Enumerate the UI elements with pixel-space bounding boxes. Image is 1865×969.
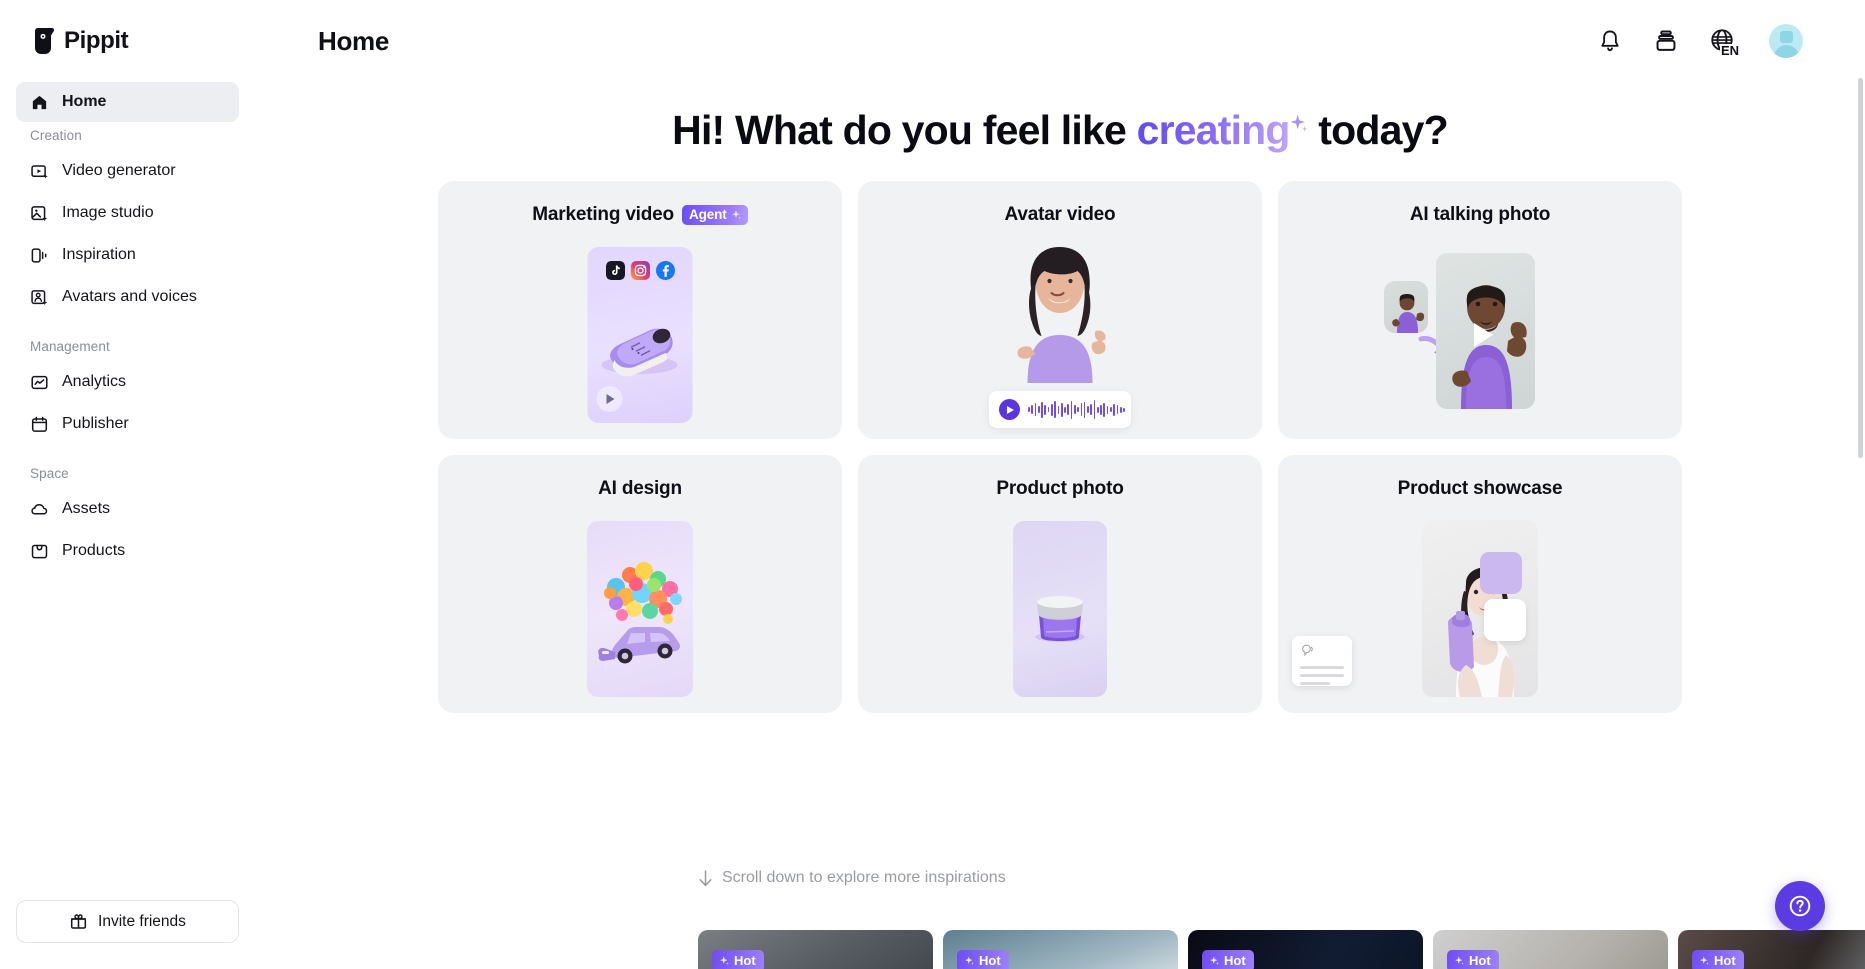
card-title: AI talking photo — [1278, 181, 1682, 226]
product-showcase-art — [1422, 520, 1538, 697]
question-circle-icon — [1787, 893, 1813, 919]
play-button[interactable] — [999, 399, 1020, 420]
purple-car-image — [593, 615, 687, 665]
play-icon[interactable] — [1474, 323, 1493, 347]
hot-badge: Hot — [1692, 950, 1744, 969]
hot-badge-label: Hot — [734, 953, 756, 968]
bell-icon[interactable] — [1597, 28, 1623, 54]
sidebar-item-analytics[interactable]: Analytics — [16, 362, 239, 402]
sidebar-item-publisher[interactable]: Publisher — [16, 404, 239, 444]
top-bar: Home EN — [255, 0, 1865, 82]
sidebar-item-assets-label: Assets — [62, 500, 110, 518]
publisher-icon — [30, 415, 49, 434]
sidebar-group-creation: Creation — [16, 128, 239, 143]
card-product-showcase[interactable]: Product showcase — [1278, 455, 1682, 713]
layers-icon[interactable] — [1653, 28, 1679, 54]
sparkle-icon — [1453, 955, 1465, 967]
marketing-video-art — [588, 247, 693, 423]
source-photo-thumbnail — [1384, 281, 1428, 333]
arrow-down-icon — [698, 870, 713, 887]
scroll-hint-label: Scroll down to explore more inspirations — [722, 869, 1006, 887]
hot-badge-label: Hot — [1469, 953, 1491, 968]
video-generator-icon — [30, 162, 49, 181]
sidebar-item-inspiration[interactable]: Inspiration — [16, 235, 239, 275]
card-ai-talking-photo-label: AI talking photo — [1410, 204, 1550, 226]
sidebar-item-products-label: Products — [62, 542, 125, 560]
cosmetic-jar-image — [1033, 595, 1087, 643]
sidebar-item-home-label: Home — [62, 93, 106, 111]
social-icons-row — [606, 261, 675, 280]
sneaker-image — [596, 303, 688, 383]
sidebar: Pippit Home Creation Video generator — [0, 0, 255, 969]
pippit-logo-icon — [32, 28, 55, 54]
tiktok-icon — [606, 261, 625, 280]
man-small-image — [1384, 281, 1428, 333]
card-avatar-video-art — [858, 239, 1262, 439]
assets-cloud-icon — [30, 500, 49, 519]
card-product-showcase-art — [1278, 513, 1682, 713]
brand-name: Pippit — [64, 27, 128, 55]
sparkle-icon — [718, 955, 730, 967]
sidebar-item-image-studio-label: Image studio — [62, 204, 154, 222]
inspiration-card[interactable]: Hot — [1678, 930, 1865, 969]
sparkle-icon — [730, 209, 742, 221]
avatar-person-image — [998, 243, 1123, 383]
note-line — [1300, 682, 1330, 685]
card-marketing-video-art — [438, 239, 842, 439]
inspiration-card[interactable]: Hot — [698, 930, 933, 969]
audio-player[interactable] — [989, 391, 1131, 428]
card-title: Product photo — [858, 455, 1262, 500]
card-product-photo-art — [858, 513, 1262, 713]
sidebar-group-space: Space — [16, 466, 239, 481]
play-button[interactable] — [597, 386, 623, 412]
agent-badge-label: Agent — [689, 207, 727, 222]
brand[interactable]: Pippit — [16, 0, 239, 82]
hot-badge: Hot — [1202, 950, 1254, 969]
card-marketing-video[interactable]: Marketing video Agent — [438, 181, 842, 439]
sidebar-group-management: Management — [16, 339, 239, 354]
note-line — [1300, 674, 1344, 677]
headline-prefix: Hi! What do you feel like — [672, 107, 1136, 153]
card-product-showcase-label: Product showcase — [1398, 478, 1563, 500]
sidebar-item-avatars-and-voices[interactable]: Avatars and voices — [16, 277, 239, 317]
instagram-icon — [631, 261, 650, 280]
card-marketing-video-label: Marketing video — [532, 204, 674, 226]
sparkle-icon — [1208, 955, 1220, 967]
scroll-hint: Scroll down to explore more inspirations — [698, 869, 1006, 887]
sidebar-item-analytics-label: Analytics — [62, 373, 126, 391]
product-photo-art — [1013, 521, 1107, 697]
sparkle-icon — [963, 955, 975, 967]
invite-friends-label: Invite friends — [98, 913, 186, 931]
card-title: Marketing video Agent — [438, 181, 842, 226]
facebook-icon — [656, 261, 675, 280]
help-button[interactable] — [1775, 881, 1825, 931]
hot-badge: Hot — [712, 950, 764, 969]
hot-badge-label: Hot — [1714, 953, 1736, 968]
hot-badge: Hot — [957, 950, 1009, 969]
sparkle-icon — [1286, 112, 1309, 136]
script-note-card — [1292, 636, 1352, 686]
agent-badge: Agent — [682, 205, 748, 225]
product-chip-top — [1480, 552, 1522, 594]
speech-sound-icon — [1300, 644, 1314, 656]
app-root: Pippit Home Creation Video generator — [0, 0, 1865, 969]
vertical-scrollbar[interactable] — [1858, 78, 1863, 458]
inspiration-icon — [30, 246, 49, 265]
image-studio-icon — [30, 204, 49, 223]
avatar[interactable] — [1769, 24, 1803, 58]
headline-suffix: today? — [1308, 107, 1448, 153]
page-title: Home — [318, 26, 389, 57]
hot-badge: Hot — [1447, 950, 1499, 969]
card-ai-talking-photo[interactable]: AI talking photo — [1278, 181, 1682, 439]
sidebar-item-publisher-label: Publisher — [62, 415, 129, 433]
card-product-photo-label: Product photo — [996, 478, 1123, 500]
invite-friends-button[interactable]: Invite friends — [16, 900, 239, 943]
sidebar-item-video-generator-label: Video generator — [62, 162, 176, 180]
hot-badge-label: Hot — [979, 953, 1001, 968]
card-avatar-video[interactable]: Avatar video — [858, 181, 1262, 439]
page-headline: Hi! What do you feel like creating today… — [255, 107, 1865, 154]
sparkle-icon — [1698, 955, 1710, 967]
sidebar-item-image-studio[interactable]: Image studio — [16, 193, 239, 233]
inspiration-card[interactable]: Hot — [1188, 930, 1423, 969]
sidebar-item-home[interactable]: Home — [16, 82, 239, 122]
hot-badge-label: Hot — [1224, 953, 1246, 968]
headline-highlight: creating — [1137, 107, 1290, 153]
card-ai-design-label: AI design — [598, 478, 682, 500]
sidebar-item-assets[interactable]: Assets — [16, 489, 239, 529]
home-icon — [30, 93, 49, 112]
analytics-icon — [30, 373, 49, 392]
main-content: Home EN — [255, 0, 1865, 969]
inspiration-card[interactable]: Hot — [943, 930, 1178, 969]
sidebar-item-avatars-and-voices-label: Avatars and voices — [62, 288, 197, 306]
products-bag-icon — [30, 542, 49, 561]
avatar-head — [1780, 31, 1793, 43]
gift-icon — [69, 912, 88, 931]
sidebar-item-inspiration-label: Inspiration — [62, 246, 136, 264]
product-chip-bottom — [1484, 599, 1526, 641]
card-title: Product showcase — [1278, 455, 1682, 500]
card-avatar-video-label: Avatar video — [1005, 204, 1116, 226]
feature-card-grid: Marketing video Agent — [255, 181, 1865, 713]
ai-design-art — [587, 521, 693, 697]
language-code: EN — [1720, 44, 1740, 57]
card-title: AI design — [438, 455, 842, 500]
card-ai-talking-photo-art — [1278, 239, 1682, 439]
card-product-photo[interactable]: Product photo — [858, 455, 1262, 713]
card-title: Avatar video — [858, 181, 1262, 226]
avatar-body — [1774, 45, 1799, 58]
inspiration-strip: Hot Hot Hot — [698, 930, 1865, 969]
note-line — [1300, 666, 1344, 669]
top-bar-actions: EN — [1597, 24, 1803, 58]
card-ai-design[interactable]: AI design — [438, 455, 842, 713]
sidebar-item-products[interactable]: Products — [16, 531, 239, 571]
avatars-voices-icon — [30, 288, 49, 307]
inspiration-card[interactable]: Hot — [1433, 930, 1668, 969]
sidebar-item-video-generator[interactable]: Video generator — [16, 151, 239, 191]
language-selector[interactable]: EN — [1709, 27, 1739, 55]
card-ai-design-art — [438, 513, 842, 713]
audio-waveform-icon — [1028, 400, 1125, 419]
